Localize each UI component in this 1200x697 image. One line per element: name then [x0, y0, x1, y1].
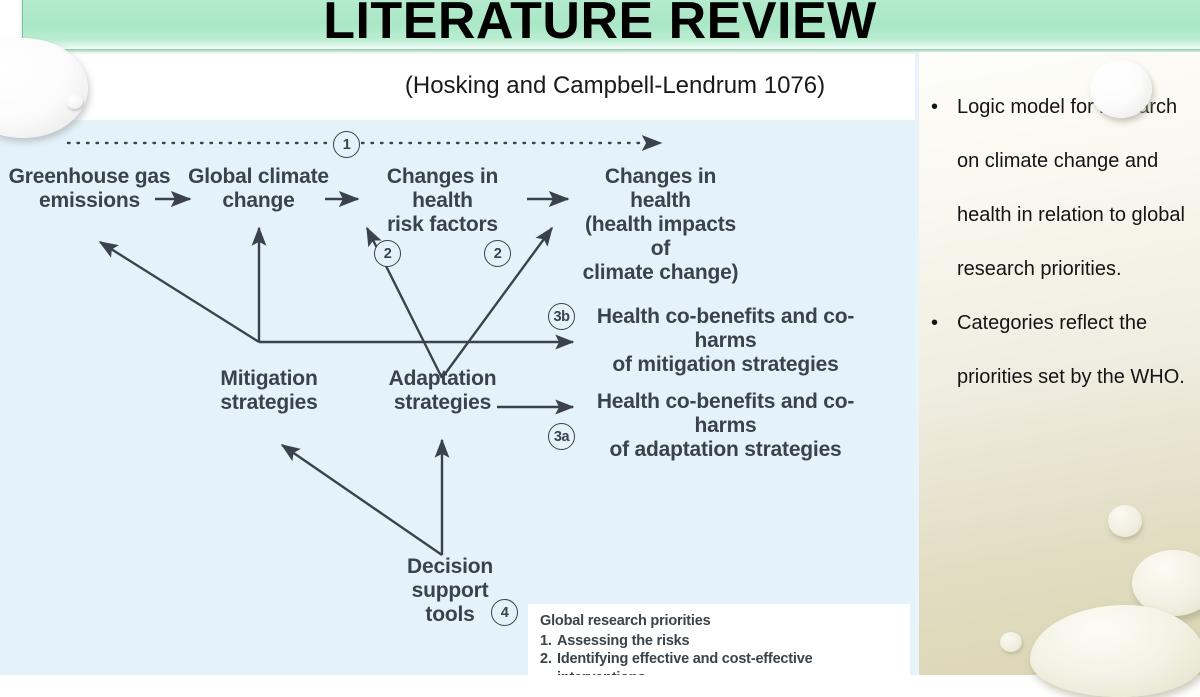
legend-item: 1. Assessing the risks: [540, 632, 900, 651]
water-bubble-icon: [66, 94, 83, 109]
step-marker-2b: 2: [484, 240, 511, 267]
node-cobenefits-mitigation: Health co-benefits and co-harmsof mitiga…: [578, 305, 873, 377]
node-adaptation-strategies: Adaptationstrategies: [375, 367, 510, 415]
legend-item-text: Identifying effective and cost-effective…: [557, 650, 900, 675]
bullet-dot-icon: •: [931, 80, 957, 134]
page-title: LITERATURE REVIEW: [0, 0, 1200, 49]
legend-item-number: 1.: [540, 632, 557, 651]
logic-model-diagram: Greenhouse gasemissions Global climatech…: [0, 120, 918, 675]
node-greenhouse-gas-emissions: Greenhouse gasemissions: [2, 165, 177, 213]
legend-item-number: 2.: [540, 650, 557, 675]
bullet-dot-icon: •: [931, 296, 957, 350]
legend-item: 2. Identifying effective and cost-effect…: [540, 650, 900, 675]
step-marker-2a: 2: [374, 240, 401, 267]
list-item-label: Categories reflect the priorities set by…: [957, 296, 1189, 404]
list-item: • Categories reflect the priorities set …: [931, 296, 1189, 404]
node-mitigation-strategies: Mitigationstrategies: [195, 367, 343, 415]
node-cobenefits-adaptation: Health co-benefits and co-harmsof adapta…: [578, 390, 873, 462]
slide-subtitle-citation: (Hosking and Campbell-Lendrum 1076): [200, 72, 1030, 100]
list-item-label: Logic model for research on climate chan…: [957, 80, 1189, 296]
legend-heading: Global research priorities: [540, 612, 900, 631]
node-changes-in-health: Changes in health(health impacts ofclima…: [573, 165, 748, 285]
step-marker-3a: 3a: [548, 423, 575, 450]
notes-panel: • Logic model for research on climate ch…: [919, 52, 1200, 675]
notes-bullet-list: • Logic model for research on climate ch…: [931, 80, 1189, 404]
step-marker-3b: 3b: [548, 303, 575, 330]
node-global-climate-change: Global climatechange: [186, 165, 331, 213]
global-research-priorities-legend: Global research priorities 1. Assessing …: [528, 604, 910, 675]
node-changes-in-health-risk-factors: Changes in healthrisk factors: [360, 165, 525, 237]
list-item: • Logic model for research on climate ch…: [931, 80, 1189, 296]
step-marker-1: 1: [333, 131, 360, 158]
step-marker-4: 4: [491, 599, 518, 626]
legend-item-text: Assessing the risks: [557, 632, 900, 651]
